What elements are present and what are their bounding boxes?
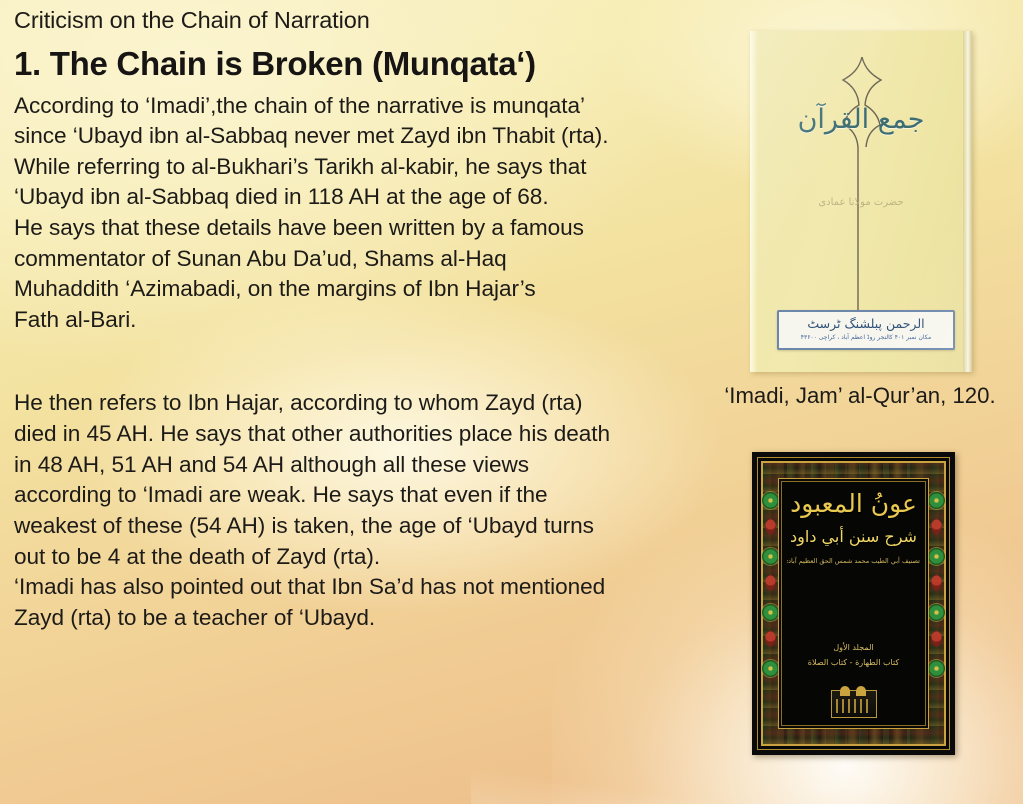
slide-text-column: Criticism on the Chain of Narration 1. T… <box>14 0 742 633</box>
book2-volume-number: المجلد الأول <box>787 640 920 655</box>
paragraph-one-line: While referring to al-Bukhari’s Tarikh a… <box>14 152 742 183</box>
paragraph-one-line: He says that these details have been wri… <box>14 213 742 244</box>
book2-logo-bars <box>836 699 872 713</box>
book2-logo-dome-icon <box>840 686 850 696</box>
book2-subtitle-arabic: شرح سنن أبي داود <box>779 527 928 546</box>
paragraph-two: He then refers to Ibn Hajar, according t… <box>14 388 742 633</box>
book2-title-panel: عونُ المعبود شرح سنن أبي داود تصنيف أبي … <box>778 478 929 729</box>
book2-rosette-ornament <box>762 660 779 677</box>
paragraph-two-line: Zayd (rta) to be a teacher of ‘Ubayd. <box>14 603 742 634</box>
book2-rosette-ornament <box>928 492 945 509</box>
book2-logo-dome-icon <box>856 686 866 696</box>
book1-arch-ornament <box>802 53 922 321</box>
paragraph-one-line: Fath al-Bari. <box>14 305 742 336</box>
book2-rosette-ornament <box>762 492 779 509</box>
book2-rosette-ornament <box>928 604 945 621</box>
paragraph-two-line: according to ‘Imadi are weak. He says th… <box>14 480 742 511</box>
book2-volume-arabic: المجلد الأول كتاب الطهارة - كتاب الصلاة <box>787 640 920 670</box>
slide-canvas: Criticism on the Chain of Narration 1. T… <box>0 0 1023 804</box>
paragraph-one-line: ‘Ubayd ibn al-Sabbaq died in 118 AH at t… <box>14 182 742 213</box>
image-citation: ‘Imadi, Jam’ al-Qur’an, 120. <box>700 383 1020 410</box>
book1-author-arabic: حضرت مولانا عمادی <box>750 197 972 208</box>
paragraph-two-line: ‘Imadi has also pointed out that Ibn Sa’… <box>14 572 742 603</box>
book1-publisher-name: الرحمن پبلشنگ ٹرسٹ <box>783 317 949 331</box>
book2-credits-arabic: تصنيف أبي الطيب محمد شمس الحق العظيم آبا… <box>787 555 920 569</box>
book1-publisher-address: مکان نمبر ۴۰۱ کالنجر روڈ اعظم آباد ، کرا… <box>783 333 949 342</box>
book-cover-awn-al-mabud: عونُ المعبود شرح سنن أبي داود تصنيف أبي … <box>752 452 955 755</box>
slide-kicker: Criticism on the Chain of Narration <box>14 7 742 33</box>
book2-publisher-logo-icon <box>831 690 877 718</box>
paragraph-one-line: According to ‘Imadi’,the chain of the na… <box>14 91 742 122</box>
paragraph-two-line: in 48 AH, 51 AH and 54 AH although all t… <box>14 450 742 481</box>
paragraph-one-line: since ‘Ubayd ibn al-Sabbaq never met Zay… <box>14 121 742 152</box>
paragraph-one-line: Muhaddith ‘Azimabadi, on the margins of … <box>14 274 742 305</box>
book2-title-arabic: عونُ المعبود <box>779 491 928 517</box>
book1-publisher-label: الرحمن پبلشنگ ٹرسٹ مکان نمبر ۴۰۱ کالنجر … <box>777 310 955 350</box>
paragraph-one: According to ‘Imadi’,the chain of the na… <box>14 91 742 336</box>
book-cover-jam-al-quran: جمع القرآن حضرت مولانا عمادی الرحمن پبلش… <box>750 31 972 372</box>
book1-title-arabic: جمع القرآن <box>750 104 972 135</box>
slide-headline: 1. The Chain is Broken (Munqata‘) <box>14 46 742 82</box>
paragraph-two-line: died in 45 AH. He says that other author… <box>14 419 742 450</box>
book2-rosette-ornament <box>928 548 945 565</box>
book2-rosette-ornament <box>762 604 779 621</box>
paragraph-one-line: commentator of Sunan Abu Da’ud, Shams al… <box>14 244 742 275</box>
book2-rosette-ornament <box>928 660 945 677</box>
book2-volume-contents: كتاب الطهارة - كتاب الصلاة <box>787 655 920 670</box>
paragraph-two-line: He then refers to Ibn Hajar, according t… <box>14 388 742 419</box>
paragraph-two-line: weakest of these (54 AH) is taken, the a… <box>14 511 742 542</box>
paragraph-two-line: out to be 4 at the death of Zayd (rta). <box>14 542 742 573</box>
book1-page-edge <box>963 31 972 372</box>
book2-rosette-ornament <box>762 548 779 565</box>
